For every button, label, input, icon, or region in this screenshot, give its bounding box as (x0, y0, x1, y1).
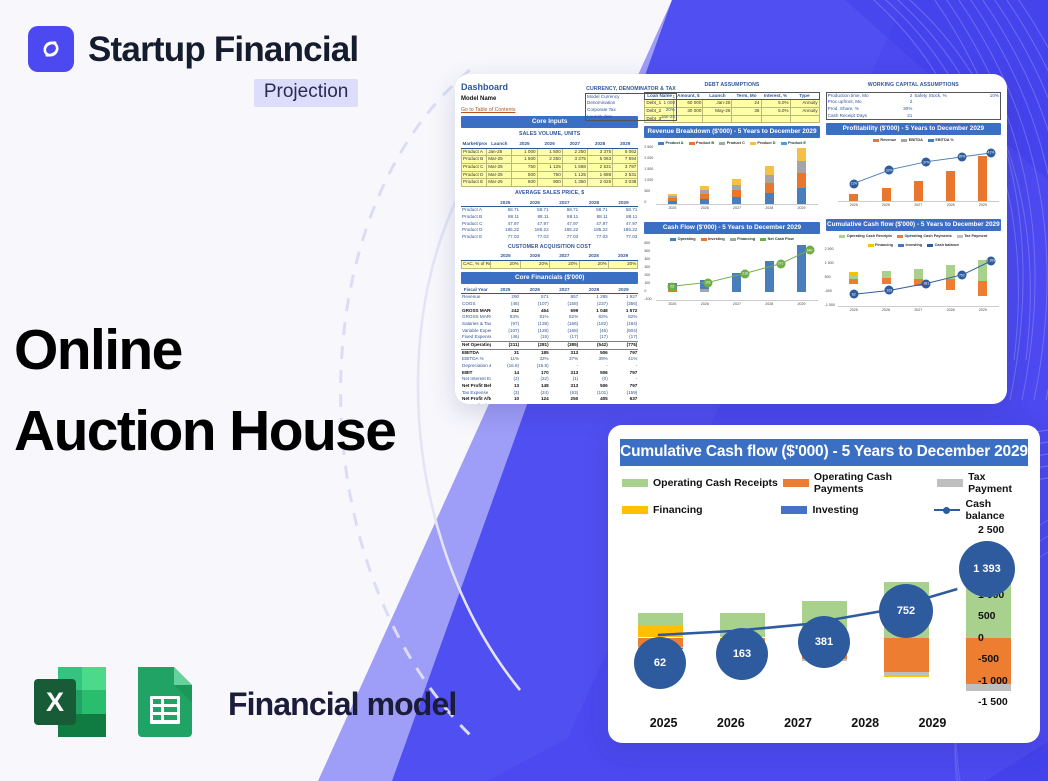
table-row: Product AJan-251 0001 5002 2503 3755 062 (462, 148, 638, 156)
table-row: Product CMar-257501 1251 6882 5313 797 (462, 164, 638, 172)
brand-lockup: Startup Financial Projection (28, 26, 358, 107)
data-point-label: 39% (957, 152, 966, 161)
table-row: Net Profit After Tax10124250405637 (461, 396, 638, 403)
cash-flow-xaxis: 2025 2026 2027 2028 2029 (656, 302, 817, 306)
table-row: GROSS MARGIN %83%81%82%82%82% (461, 314, 638, 321)
chart-body: 62 163 381 752 1 393 2 500 2 000 1 500 1… (620, 526, 1028, 738)
svg-text:X: X (46, 687, 64, 717)
table-row: GROSS MARGIN2424646991 0481 572 (461, 308, 638, 315)
cumulative-cash-flow-card: Cumulative Cash flow ($'000) - 5 Years t… (608, 425, 1040, 743)
table-row: Product E77.0377.0377.0377.0377.03 (461, 234, 638, 241)
brand-row: Startup Financial (28, 26, 358, 72)
cash-flow-legend: Operating Investing Financing Net Cash F… (644, 237, 819, 241)
table-row: Corporate Tax20% (586, 107, 677, 114)
page-title-line1: Online (14, 310, 395, 391)
revenue-breakdown-title: Revenue Breakdown ($'000) - 5 Years to D… (644, 126, 819, 138)
legend-item: Financing (622, 498, 781, 522)
infinity-loop-logo-icon (28, 26, 74, 72)
data-point-label-2027: 381 (798, 616, 850, 668)
table-row: Salaries & Taxes(97)(138)(166)(182)(184) (461, 321, 638, 328)
legend-swatch-icon (622, 479, 648, 487)
data-point-label-2025: 62 (634, 637, 686, 689)
data-point-label: 62 (668, 282, 677, 291)
table-row: Revenue2905718571 2851 927 (461, 294, 638, 301)
table-row: CAC, % of Revenue20%20%20%20%20% (462, 261, 638, 269)
data-point-label: 37% (922, 158, 931, 167)
core-financials-table: Fiscal Year 2025 2026 2027 2028 2029 Rev… (461, 287, 638, 404)
dashboard-preview-card: Dashboard Model Name Go to Table of Cont… (455, 74, 1007, 404)
bar (732, 179, 741, 204)
revenue-breakdown-chart: Product A Product B Product C Product D … (644, 141, 819, 219)
cumulative-cash-flow-mini-chart: Operating Cash Receipts Operating Cash P… (826, 234, 1001, 312)
data-point-label: 752 (957, 271, 966, 280)
dashboard-middle-column: DEBT ASSUMPTIONS Loan Name Amount, $ Lau… (644, 82, 819, 396)
data-point-label: 640 (805, 246, 814, 255)
data-point-label-2029: 1 393 (959, 541, 1015, 597)
data-point-label: 381 (922, 279, 931, 288)
table-row: COGS(48)(107)(158)(237)(356) (461, 301, 638, 308)
table-row: Product B88.1188.1188.1188.1188.11 (461, 214, 638, 221)
table-row: Net Profit Before Tax13148313506797 (461, 383, 638, 390)
table-row: Variable Expenses(107)(128)(168)(46)(504… (461, 328, 638, 335)
brand-subtitle: Projection (254, 79, 359, 107)
legend-line-icon (934, 506, 960, 514)
format-badges-label: Financial model (228, 686, 456, 723)
table-row: Production time, Mo2Safety Stock, %10% (826, 92, 1000, 99)
legend-swatch-icon (781, 506, 807, 514)
data-point-label: 41% (986, 148, 995, 157)
table-row: Net Profit After Tax %4%22%29%32%33% (461, 403, 638, 404)
legend-item: Tax Payment (937, 471, 1026, 495)
chart-legend: Operating Cash Receipts Operating Cash P… (622, 471, 1026, 522)
data-point-label: 62 (849, 290, 858, 299)
wc-assumptions-table: Production time, Mo2Safety Stock, %10% P… (826, 92, 1001, 121)
legend-swatch-icon (937, 479, 963, 487)
legend-item: Operating Cash Receipts (622, 471, 783, 495)
wc-assumptions-caption: WORKING CAPITAL ASSUMPTIONS (826, 82, 1001, 89)
bar (797, 148, 806, 204)
page-title: Online Auction House (14, 310, 395, 472)
cumulative-cash-flow-mini-title: Cumulative Cash flow ($'000) - 5 Years t… (826, 219, 1001, 231)
data-point-label: 32% (885, 166, 894, 175)
currency-block: CURRENCY, DENOMINATOR & TAX Model Curren… (585, 86, 677, 121)
revenue-breakdown-xaxis: 2025 2026 2027 2028 2029 (656, 206, 817, 210)
bar (668, 194, 677, 204)
dashboard-left-column: Dashboard Model Name Go to Table of Cont… (461, 82, 638, 396)
data-point-label: 218 (741, 269, 750, 278)
table-row: Prod. Share, %30% (826, 106, 1000, 113)
legend-item: Investing (781, 498, 934, 522)
avg-price-table: 2025 2026 2027 2028 2029 Product A58.715… (461, 200, 638, 241)
core-financials-band: Core Financials ($'000) (461, 272, 638, 284)
chart-title: Cumulative Cash flow ($'000) - 5 Years t… (620, 439, 1028, 466)
cumulative-cash-flow-mini-plot: 2 500 1 500 500 -500 -1 500 (838, 249, 999, 307)
brand-name: Startup Financial (88, 32, 358, 67)
format-badges: X Financial model (30, 663, 456, 746)
profitability-legend: Revenue EBITDA EBITDA % (826, 138, 1001, 142)
dashboard-right-column: WORKING CAPITAL ASSUMPTIONS Production t… (826, 82, 1001, 396)
profitability-title: Profitability ($'000) - 5 Years to Decem… (826, 123, 1001, 135)
table-row: Product BMar-251 5002 2503 3755 0637 594 (462, 156, 638, 164)
table-row: Product EMar-256009001 3502 0253 038 (462, 179, 638, 187)
data-point-label-2028: 752 (879, 584, 933, 638)
bar (765, 166, 774, 204)
data-point-label-2026: 163 (716, 628, 768, 680)
table-row: EBITDA31185313506797 (461, 349, 638, 356)
revenue-breakdown-legend: Product A Product B Product C Product D … (644, 141, 819, 145)
chart-plot-area: 62 163 381 752 1 393 (630, 530, 966, 702)
cash-flow-title: Cash Flow ($'000) - 5 Years to December … (644, 222, 819, 234)
revenue-breakdown-plot: 2 500 2 000 1 500 1 000 500 0 (656, 147, 817, 205)
table-row: Tax Expense(3)(24)(63)(101)(159) (461, 390, 638, 397)
cash-flow-plot: 600 500 400 300 200 100 0 -100 (656, 243, 817, 301)
table-row: Denomination1 000 (586, 100, 677, 107)
legend-swatch-icon (622, 506, 648, 514)
cumulative-cash-flow-mini-legend: Operating Cash Receipts Operating Cash P… (826, 234, 1001, 247)
table-row: Proc.upfront, Mo2 (826, 99, 1000, 106)
bar (700, 186, 709, 204)
table-row: Product DMar-255007501 1251 6882 531 (462, 171, 638, 179)
data-point-label: 163 (885, 286, 894, 295)
legend-item: Cash balance (934, 498, 1026, 522)
table-row: EBIT14170313506797 (461, 370, 638, 377)
data-point-label: 371 (776, 259, 785, 268)
table-row: Model Currency1 (586, 93, 677, 100)
profitability-xaxis: 2025 2026 2027 2028 2029 (838, 203, 999, 207)
google-sheets-icon (130, 663, 200, 746)
currency-table: Model Currency1 Denomination1 000 Corpor… (585, 93, 677, 122)
table-row: EBITDA %11%32%37%39%41% (461, 356, 638, 363)
page-title-line2: Auction House (14, 391, 395, 472)
data-point-label: 101 (703, 278, 712, 287)
cac-caption: CUSTOMER ACQUISITION COST (461, 244, 638, 251)
profitability-plot: 11% 32% 37% 39% 41% (838, 144, 999, 202)
table-row: Product C47.9747.9747.9747.9747.97 (461, 221, 638, 228)
sales-volume-caption: SALES VOLUME, UNITS (461, 131, 638, 138)
legend-item: Operating Cash Payments (783, 471, 937, 495)
table-row: Cash Receipt Days21 (826, 113, 1000, 120)
cumulative-cash-flow-mini-xaxis: 2025 2026 2027 2028 2029 (838, 308, 999, 312)
table-row: Net Interest Expense(2)(22)(1)(0)- (461, 376, 638, 383)
table-row: Product D185.22185.22185.22185.22185.22 (461, 227, 638, 234)
table-row: Product A58.7158.7158.7158.7158.71 (461, 207, 638, 214)
avg-price-caption: AVERAGE SALES PRICE, $ (461, 190, 638, 197)
table-row: Fixed Expenses(46)(15)(17)(17)(17) (461, 334, 638, 341)
chart-x-axis: 2025 2026 2027 2028 2029 (630, 716, 966, 730)
table-row: Launch dateJan-25 (586, 114, 677, 121)
data-point-label: 1 393 (986, 256, 995, 265)
cash-flow-chart: Operating Investing Financing Net Cash F… (644, 237, 819, 315)
data-point-label: 11% (849, 179, 858, 188)
legend-swatch-icon (783, 479, 809, 487)
sales-volume-table: Market/product Launch 2025 2026 2027 202… (461, 141, 638, 187)
table-row: Depreciation & Amortization(16.8)(15.8)-… (461, 363, 638, 370)
profitability-chart: Revenue EBITDA EBITDA % 11% (826, 138, 1001, 216)
microsoft-excel-icon: X (30, 663, 110, 746)
currency-caption: CURRENCY, DENOMINATOR & TAX (585, 86, 677, 93)
table-row: Net Operating Expenses(211)(281)(385)(54… (461, 342, 638, 350)
cac-table: 2025 2026 2027 2028 2029 CAC, % of Reven… (461, 253, 638, 268)
